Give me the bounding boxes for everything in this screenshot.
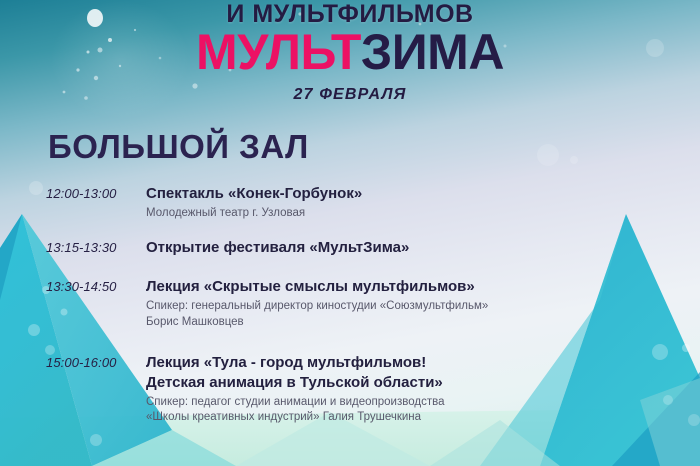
schedule-row: 12:00-13:00 Спектакль «Конек-Горбунок» М… [46,184,666,222]
schedule-description-line: Спикер: генеральный директор киностудии … [146,299,666,315]
schedule-row: 13:15-13:30 Открытие фестиваля «МультЗим… [46,238,666,258]
event-date: 27 ФЕВРАЛЯ [0,86,700,104]
schedule-description-line: «Школы креативных индустрий» Галия Труше… [146,410,666,426]
schedule-body: Лекция «Скрытые смыслы мультфильмов» Спи… [146,277,666,331]
schedule-description: Молодежный театр г. Узловая [146,206,666,222]
schedule-body: Открытие фестиваля «МультЗима» [146,238,666,258]
left-triangle-shadow [0,214,22,300]
schedule-body: Лекция «Тула - город мультфильмов! Детск… [146,353,666,426]
schedule-time: 15:00-16:00 [46,353,146,370]
wordmark-part-zima: ЗИМА [361,24,504,80]
schedule-list: 12:00-13:00 Спектакль «Конек-Горбунок» М… [46,184,666,442]
schedule-title-line-2: Детская анимация в Тульской области» [146,373,666,393]
schedule-description: Спикер: педагог студии анимации и видеоп… [146,395,666,427]
schedule-description: Спикер: генеральный директор киностудии … [146,299,666,331]
poster-header: И МУЛЬТФИЛЬМОВ МУЛЬТЗИМА 27 ФЕВРАЛЯ [0,0,700,104]
schedule-title: Открытие фестиваля «МультЗима» [146,238,666,258]
schedule-body: Спектакль «Конек-Горбунок» Молодежный те… [146,184,666,222]
event-poster: И МУЛЬТФИЛЬМОВ МУЛЬТЗИМА 27 ФЕВРАЛЯ БОЛЬ… [0,0,700,466]
schedule-description-line: Спикер: педагог студии анимации и видеоп… [146,395,666,411]
schedule-time: 13:15-13:30 [46,238,146,255]
festival-wordmark: МУЛЬТЗИМА [0,29,700,77]
schedule-title: Лекция «Скрытые смыслы мультфильмов» [146,277,666,297]
schedule-row: 13:30-14:50 Лекция «Скрытые смыслы мульт… [46,277,666,331]
schedule-description-line: Борис Машковцев [146,315,666,331]
schedule-title: Спектакль «Конек-Горбунок» [146,184,666,204]
wordmark-part-mult: МУЛЬТ [196,24,361,80]
schedule-description-line: Молодежный театр г. Узловая [146,206,666,222]
hall-title: БОЛЬШОЙ ЗАЛ [48,128,309,166]
schedule-time: 12:00-13:00 [46,184,146,201]
schedule-time: 13:30-14:50 [46,277,146,294]
schedule-title: Лекция «Тула - город мультфильмов! [146,353,666,373]
schedule-row: 15:00-16:00 Лекция «Тула - город мультфи… [46,353,666,426]
